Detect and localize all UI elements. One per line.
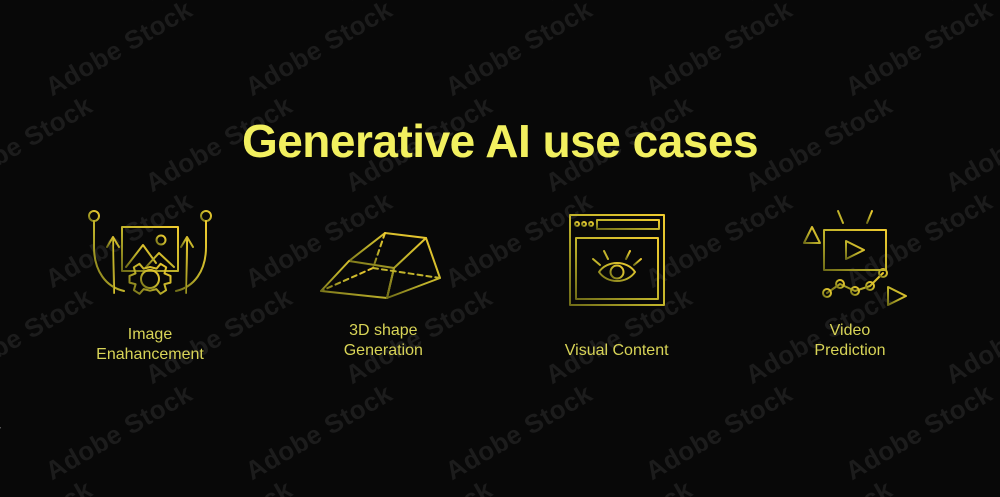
page-title: Generative AI use cases [0, 118, 1000, 164]
use-case-item-image-enhancement[interactable]: Image Enahancement [50, 205, 250, 365]
image-enhancement-icon [80, 205, 220, 315]
use-case-item-visual-content[interactable]: Visual Content [517, 205, 717, 361]
use-case-label: Image Enahancement [96, 325, 204, 365]
video-chart-icon [780, 205, 920, 315]
frustum-wireframe-icon [313, 205, 453, 315]
browser-eye-icon [547, 205, 687, 315]
stock-credit-text: Adobe Stock | #748510603 [0, 366, 2, 491]
use-case-item-video-prediction[interactable]: Video Prediction [750, 205, 950, 361]
use-case-item-3d-shape-generation[interactable]: 3D shape Generation [283, 205, 483, 361]
use-case-list: Image Enahancement [50, 205, 950, 390]
image-canvas: Adobe StockAdobe StockAdobe StockAdobe S… [0, 0, 1000, 497]
use-case-label: 3D shape Generation [344, 321, 423, 361]
content-layer: Generative AI use cases [0, 0, 1000, 497]
use-case-label: Video Prediction [814, 321, 885, 361]
use-case-label: Visual Content [565, 341, 669, 361]
